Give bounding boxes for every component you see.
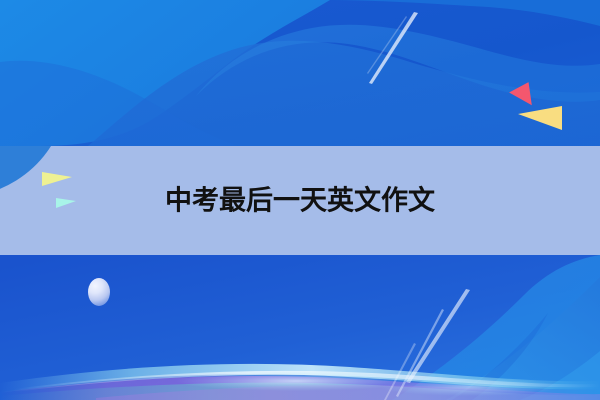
decorative-blue-wave-header [0, 0, 600, 146]
triangle-icon-yellow [42, 172, 72, 186]
hero-wave-graphic [0, 0, 600, 146]
triangle-icon-gold [518, 106, 562, 130]
footer-aurora-graphic [0, 255, 600, 400]
triangle-icon-cyan [56, 198, 76, 208]
decorative-blue-aurora-footer [0, 255, 600, 400]
circle-icon-orb [88, 278, 110, 306]
page-title: 中考最后一天英文作文 [165, 187, 435, 214]
title-band: 中考最后一天英文作文 [0, 146, 600, 255]
banner-image: 中考最后一天英文作文 [0, 0, 600, 400]
